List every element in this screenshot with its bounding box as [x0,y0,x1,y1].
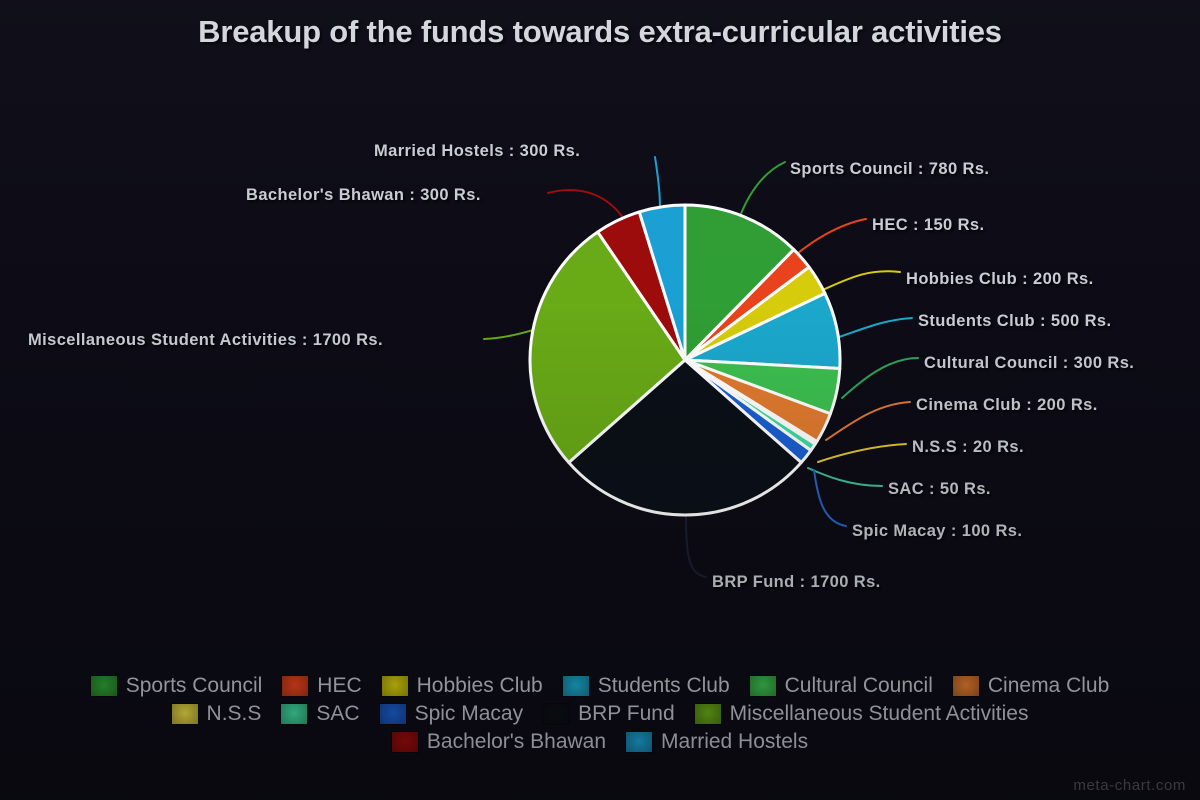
callout-label-brp-fund: BRP Fund : 1700 Rs. [712,573,881,592]
leader-line-bachelors-bhawan [548,190,624,219]
legend-swatch-icon [282,676,308,696]
legend-swatch-icon [281,704,307,724]
legend-swatch-icon [172,704,198,724]
pie-slices-group [530,205,840,515]
leader-line-hobbies-club [818,271,900,292]
legend-label: HEC [317,674,361,698]
callout-label-students-club: Students Club : 500 Rs. [918,312,1111,331]
legend-label: N.S.S [207,702,262,726]
legend-swatch-icon [953,676,979,696]
legend-swatch-icon [543,704,569,724]
legend-label: Married Hostels [661,730,808,754]
leader-line-married-hostels [655,157,660,212]
callout-label-sports-council: Sports Council : 780 Rs. [790,160,989,179]
legend-item[interactable]: N.S.S [172,700,262,728]
legend-label: BRP Fund [578,702,675,726]
legend-item[interactable]: Married Hostels [626,728,808,756]
callout-label-nss: N.S.S : 20 Rs. [912,438,1024,457]
leader-line-misc-student [484,329,537,339]
chart-canvas: Breakup of the funds towards extra-curri… [0,0,1200,800]
legend-item[interactable]: Sports Council [91,672,263,700]
leader-line-hec [790,219,866,260]
legend-label: Cinema Club [988,674,1109,698]
legend-item[interactable]: HEC [282,672,361,700]
callout-label-misc-student: Miscellaneous Student Activities : 1700 … [28,331,383,350]
legend-item[interactable]: Students Club [563,672,730,700]
watermark: meta-chart.com [1073,777,1186,794]
callout-label-spic-macay: Spic Macay : 100 Rs. [852,522,1022,541]
leader-line-brp-fund [686,516,706,577]
legend-item[interactable]: BRP Fund [543,700,675,728]
legend-item[interactable]: Cinema Club [953,672,1109,700]
legend-swatch-icon [91,676,117,696]
leader-line-spic-macay [814,470,846,526]
callout-label-bachelors-bhawan: Bachelor's Bhawan : 300 Rs. [246,186,481,205]
legend-swatch-icon [626,732,652,752]
legend-item[interactable]: Spic Macay [380,700,524,728]
legend-label: Cultural Council [785,674,933,698]
leader-line-cinema-club [826,402,910,440]
legend-item[interactable]: Hobbies Club [382,672,543,700]
legend-item[interactable]: SAC [281,700,359,728]
leader-line-nss [818,444,906,462]
legend-item[interactable]: Bachelor's Bhawan [392,728,606,756]
chart-legend: Sports CouncilHECHobbies ClubStudents Cl… [0,672,1200,756]
callout-label-cinema-club: Cinema Club : 200 Rs. [916,396,1098,415]
legend-label: Students Club [598,674,730,698]
callout-label-hobbies-club: Hobbies Club : 200 Rs. [906,270,1094,289]
legend-swatch-icon [382,676,408,696]
callout-label-sac: SAC : 50 Rs. [888,480,991,499]
legend-label: Sports Council [126,674,263,698]
leader-line-sports-council [740,162,785,216]
callout-label-cultural-council: Cultural Council : 300 Rs. [924,354,1134,373]
legend-swatch-icon [380,704,406,724]
callout-label-hec: HEC : 150 Rs. [872,216,985,235]
legend-label: Bachelor's Bhawan [427,730,606,754]
leader-line-sac [808,468,882,486]
legend-swatch-icon [563,676,589,696]
legend-item[interactable]: Cultural Council [750,672,933,700]
legend-label: Miscellaneous Student Activities [730,702,1029,726]
leader-line-cultural-council [842,358,918,398]
legend-swatch-icon [695,704,721,724]
legend-swatch-icon [392,732,418,752]
legend-label: Spic Macay [415,702,524,726]
legend-item[interactable]: Miscellaneous Student Activities [695,700,1029,728]
legend-swatch-icon [750,676,776,696]
legend-label: SAC [316,702,359,726]
leader-line-students-club [830,318,912,340]
callout-label-married-hostels: Married Hostels : 300 Rs. [374,142,580,161]
legend-label: Hobbies Club [417,674,543,698]
